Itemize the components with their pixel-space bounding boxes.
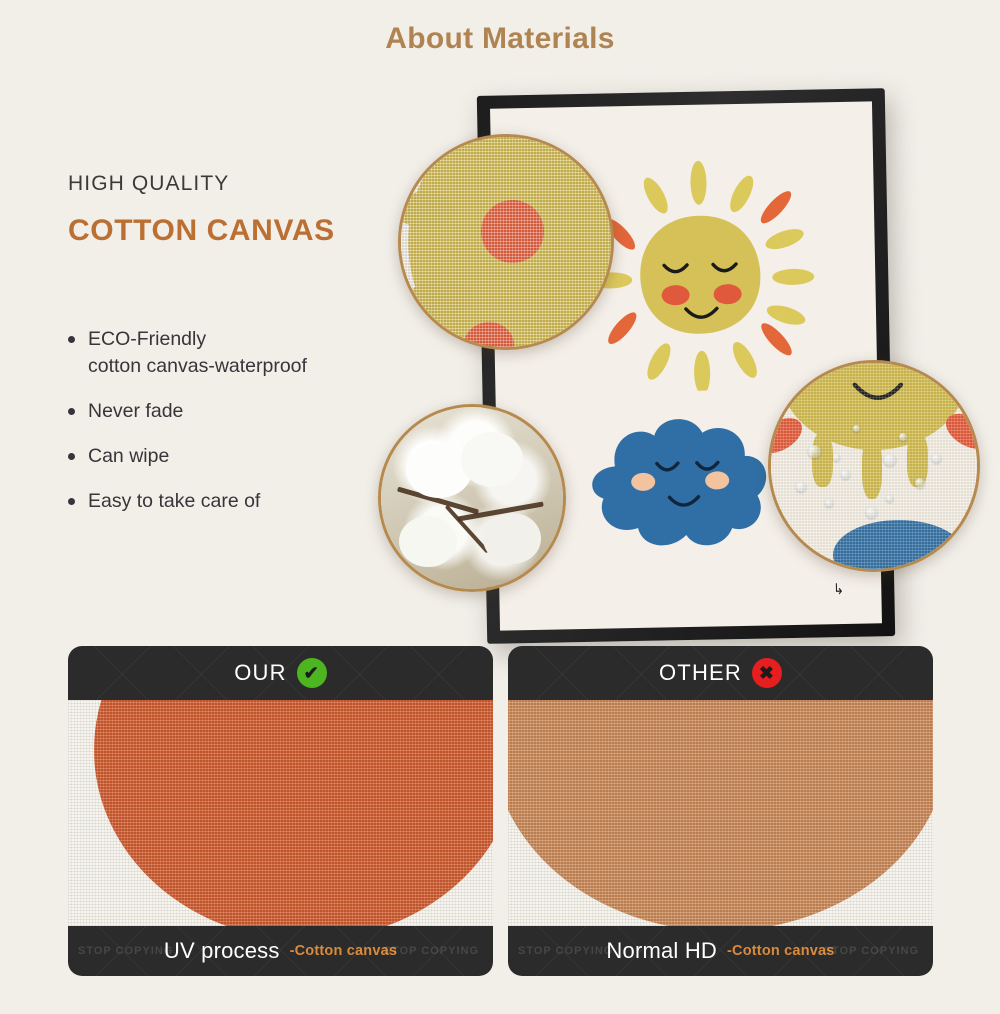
print-sample-our bbox=[68, 700, 493, 926]
list-item: Can wipe bbox=[68, 443, 398, 470]
sleepy-cloud-illustration bbox=[570, 403, 788, 557]
sleepy-sun-illustration bbox=[583, 159, 817, 393]
bullet-dot-icon bbox=[68, 498, 75, 505]
comparison-panel-our: OUR ✔ STOP COPYING STOP COPYING UV proce… bbox=[68, 646, 493, 976]
list-item: ECO-Friendly cotton canvas-waterproof bbox=[68, 326, 398, 380]
bullet-dot-icon bbox=[68, 336, 75, 343]
panel-header-label: OTHER bbox=[659, 660, 742, 686]
bullet-dot-icon bbox=[68, 408, 75, 415]
list-item: Never fade bbox=[68, 398, 398, 425]
feature-label: Can wipe bbox=[88, 445, 169, 467]
feature-label: Never fade bbox=[88, 400, 183, 422]
close-icon: ✖ bbox=[752, 658, 782, 688]
intro-eyebrow: HIGH QUALITY bbox=[68, 172, 398, 196]
waterproof-lens bbox=[768, 360, 980, 572]
artist-signature: ↳ bbox=[834, 580, 845, 598]
panel-caption-label: UV process bbox=[164, 938, 280, 964]
panel-caption-other: STOP COPYING STOP COPYING Normal HD -Cot… bbox=[508, 926, 933, 976]
cotton-boll-lens bbox=[378, 404, 566, 592]
panel-caption-note: -Cotton canvas bbox=[727, 943, 835, 959]
page-title: About Materials bbox=[0, 22, 1000, 56]
comparison-section: OUR ✔ STOP COPYING STOP COPYING UV proce… bbox=[68, 646, 933, 976]
feature-label: Easy to take care of bbox=[88, 490, 260, 512]
panel-header-label: OUR bbox=[234, 660, 287, 686]
panel-caption-our: STOP COPYING STOP COPYING UV process -Co… bbox=[68, 926, 493, 976]
panel-caption-note: -Cotton canvas bbox=[290, 943, 398, 959]
print-sample-other bbox=[508, 700, 933, 926]
feature-list: ECO-Friendly cotton canvas-waterproof Ne… bbox=[68, 326, 398, 515]
panel-header-other: OTHER ✖ bbox=[508, 646, 933, 700]
list-item: Easy to take care of bbox=[68, 488, 398, 515]
intro-text-block: HIGH QUALITY COTTON CANVAS ECO-Friendly … bbox=[68, 172, 398, 533]
check-icon: ✔ bbox=[297, 658, 327, 688]
comparison-panel-other: OTHER ✖ STOP COPYING STOP COPYING Normal… bbox=[508, 646, 933, 976]
feature-label: cotton canvas-waterproof bbox=[88, 355, 307, 377]
intro-headline: COTTON CANVAS bbox=[68, 214, 398, 248]
bullet-dot-icon bbox=[68, 453, 75, 460]
panel-header-our: OUR ✔ bbox=[68, 646, 493, 700]
panel-caption-label: Normal HD bbox=[606, 938, 717, 964]
cotton-photo bbox=[381, 407, 563, 589]
feature-label: ECO-Friendly bbox=[88, 328, 206, 350]
canvas-weave-lens bbox=[398, 134, 614, 350]
